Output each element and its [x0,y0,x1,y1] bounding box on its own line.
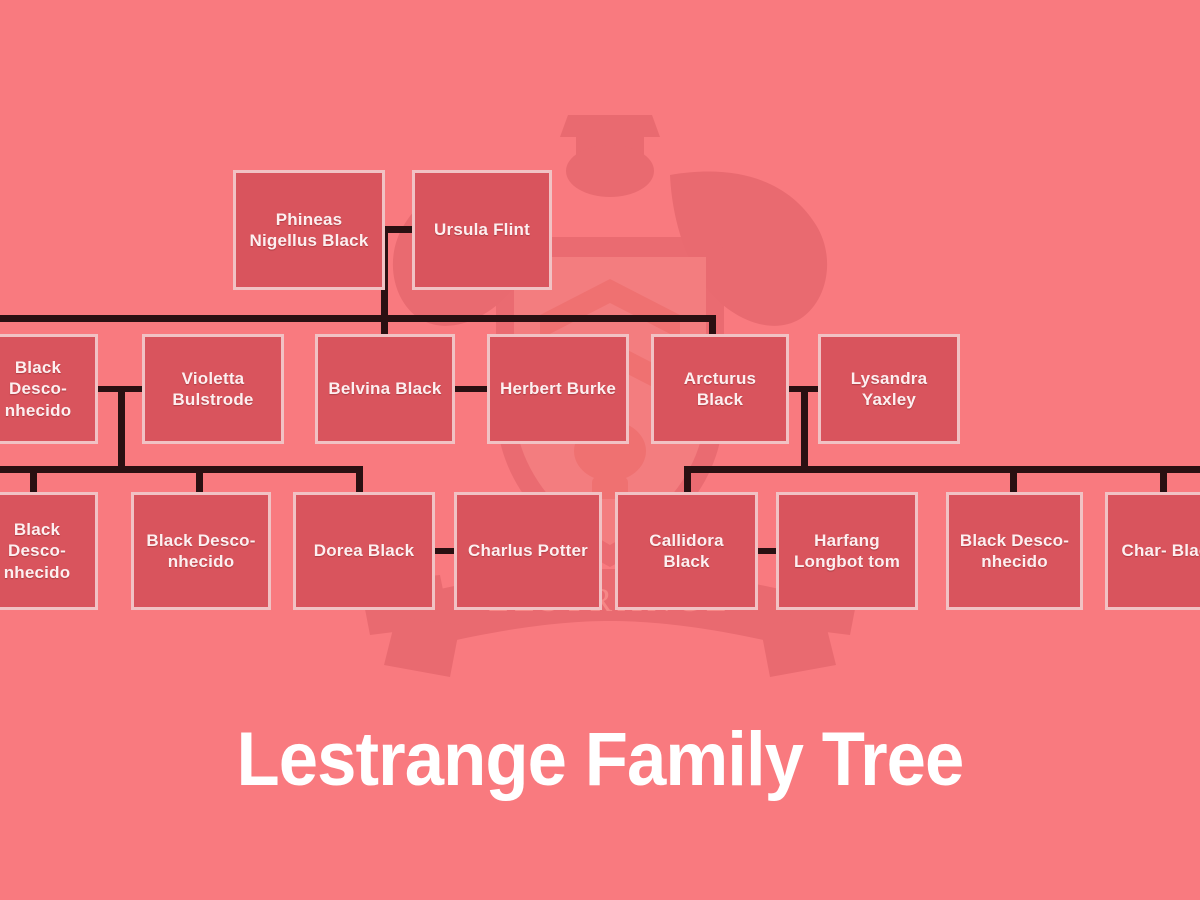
page-title: Lestrange Family Tree [42,722,1158,798]
connector-drop-callidora [684,466,691,494]
person-label: Ursula Flint [421,219,543,240]
person-node-dorea-black[interactable]: Dorea Black [293,492,435,610]
connector-drop-left-family [118,386,125,470]
person-label: Lysandra Yaxley [827,368,951,411]
person-label: Belvina Black [324,378,446,399]
person-label: Violetta Bulstrode [151,368,275,411]
person-node-lysandra-yaxley[interactable]: Lysandra Yaxley [818,334,960,444]
connector-drop-right-family [801,386,808,470]
person-label: Black Desco-nhecido [0,357,89,421]
person-label: Black Desco-nhecido [140,530,262,573]
person-label: Arcturus Black [660,368,780,411]
person-node-black-desconhecido-g3b[interactable]: Black Desco-nhecido [131,492,271,610]
connector-drop-black-g3c [1010,466,1017,494]
family-tree-canvas: LESTRANGE Phineas Nigellus Black Ursula … [0,0,1200,900]
person-node-phineas-nigellus-black[interactable]: Phineas Nigellus Black [233,170,385,290]
person-label: Char- Blac [1114,540,1200,561]
person-label: Black Desco-nhecido [955,530,1074,573]
person-node-harfang-longbottom[interactable]: Harfang Longbot tom [776,492,918,610]
connector-sibling-bus-g2 [0,315,716,322]
person-label: Herbert Burke [496,378,620,399]
person-node-black-desconhecido-g3a[interactable]: Black Desco-nhecido [0,492,98,610]
person-label: Black Desco-nhecido [0,519,89,583]
connector-drop-black-g3b [196,466,203,494]
connector-drop-charis [1160,466,1167,494]
person-node-charlus-potter[interactable]: Charlus Potter [454,492,602,610]
person-node-black-desconhecido-g3c[interactable]: Black Desco-nhecido [946,492,1083,610]
person-node-herbert-burke[interactable]: Herbert Burke [487,334,629,444]
connector-sibling-bus-g3-left [0,466,360,473]
person-node-charis-black[interactable]: Char- Blac [1105,492,1200,610]
person-label: Phineas Nigellus Black [242,209,376,252]
person-label: Dorea Black [302,540,426,561]
person-label: Harfang Longbot tom [785,530,909,573]
person-label: Charlus Potter [463,540,593,561]
connector-marriage-belvina-herbert [455,386,487,392]
person-node-black-desconhecido-g2[interactable]: Black Desco-nhecido [0,334,98,444]
person-node-belvina-black[interactable]: Belvina Black [315,334,455,444]
connector-sibling-bus-g3-right [684,466,1200,473]
person-node-ursula-flint[interactable]: Ursula Flint [412,170,552,290]
person-node-arcturus-black[interactable]: Arcturus Black [651,334,789,444]
person-node-violetta-bulstrode[interactable]: Violetta Bulstrode [142,334,284,444]
connector-drop-black-g3a [30,466,37,494]
person-node-callidora-black[interactable]: Callidora Black [615,492,758,610]
connector-drop-dorea [356,466,363,494]
person-label: Callidora Black [624,530,749,573]
